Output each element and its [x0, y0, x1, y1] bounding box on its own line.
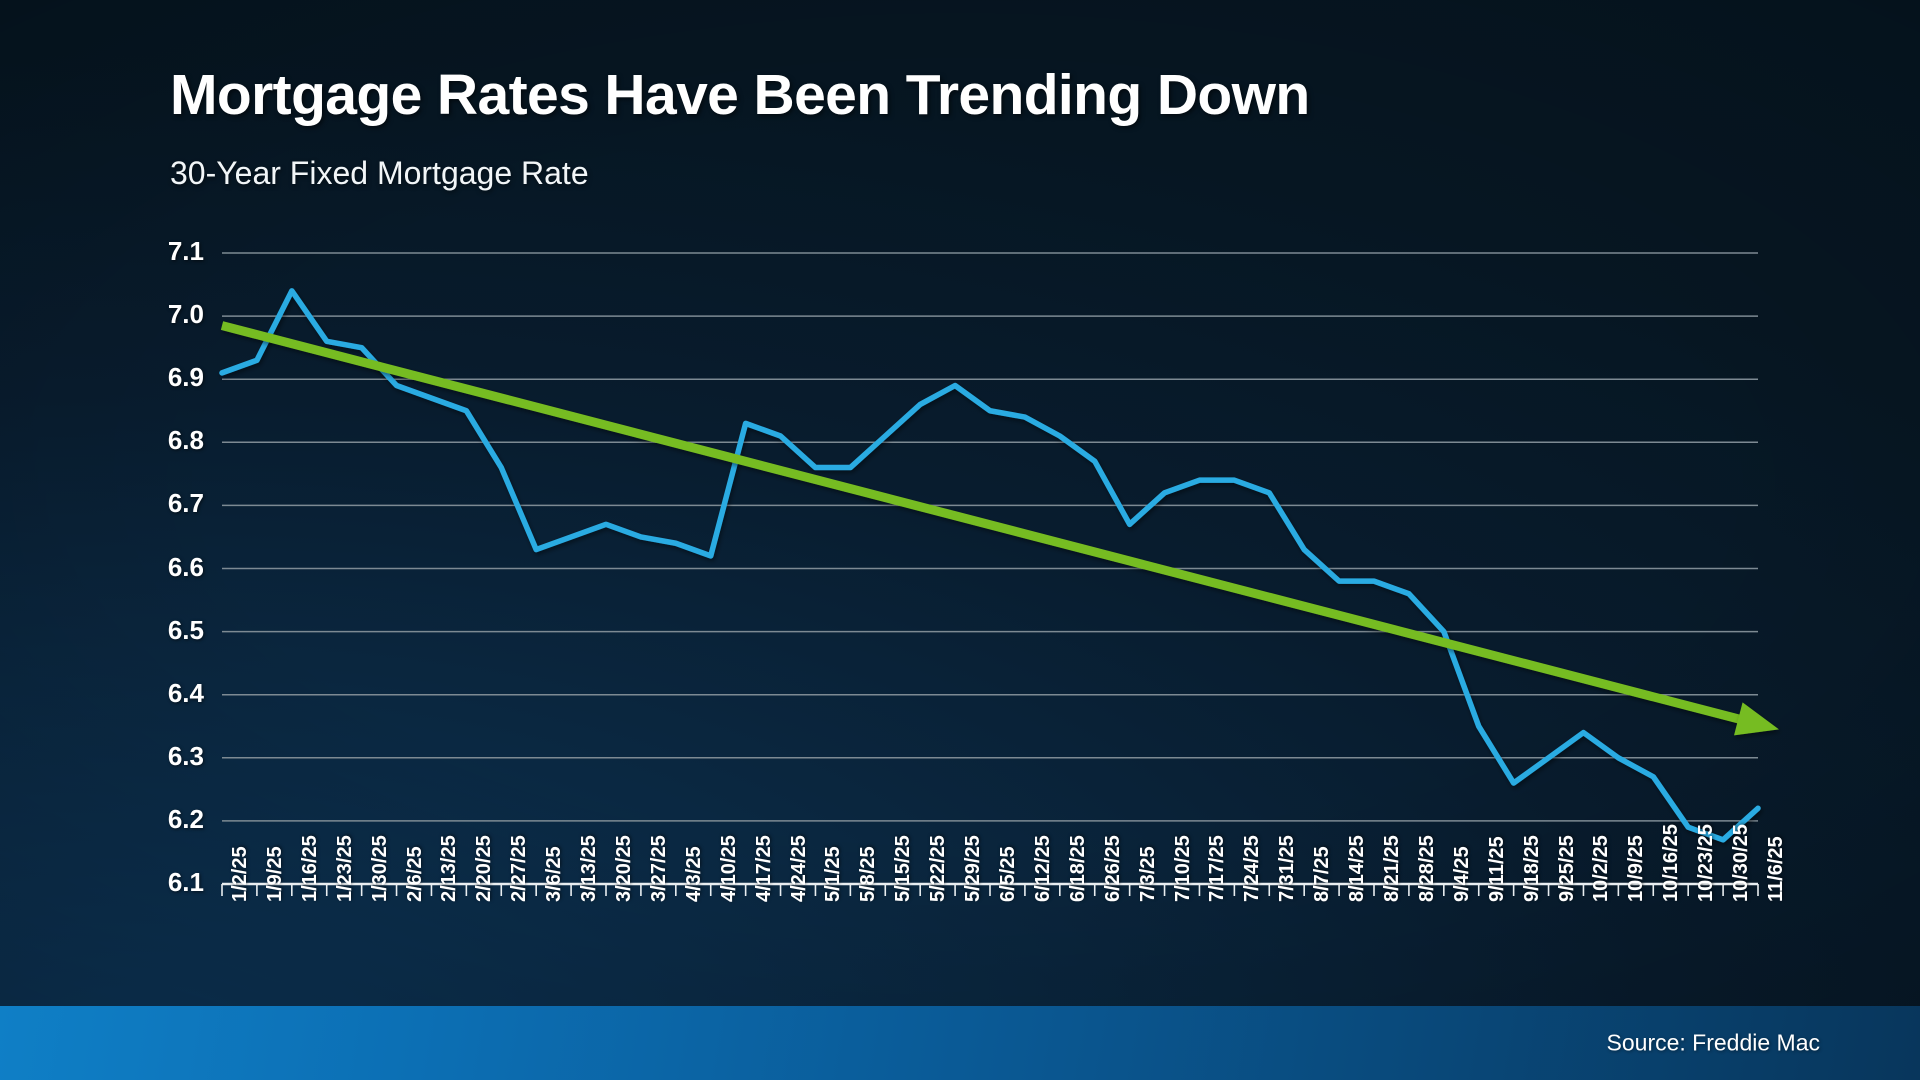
x-axis-tick-label: 2/27/25 — [508, 835, 531, 902]
x-axis-tick-label: 5/1/25 — [822, 846, 845, 902]
y-axis-tick-label: 6.8 — [114, 425, 204, 456]
y-axis-tick-label: 6.5 — [114, 615, 204, 646]
y-axis-tick-label: 6.4 — [114, 678, 204, 709]
x-axis-tick-label: 1/9/25 — [264, 846, 287, 902]
x-axis-tick-label: 3/27/25 — [648, 835, 671, 902]
y-axis-tick-label: 6.9 — [114, 362, 204, 393]
x-axis-tick-label: 7/17/25 — [1206, 835, 1229, 902]
x-axis-tick-label: 6/12/25 — [1032, 835, 1055, 902]
x-axis-tick-label: 9/25/25 — [1556, 835, 1579, 902]
x-axis-tick-label: 10/9/25 — [1625, 835, 1648, 902]
x-axis-tick-label: 6/5/25 — [997, 846, 1020, 902]
gridlines-group — [222, 253, 1758, 884]
x-axis-tick-label: 9/4/25 — [1451, 846, 1474, 902]
x-axis-tick-label: 7/31/25 — [1276, 835, 1299, 902]
x-axis-tick-label: 10/2/25 — [1590, 835, 1613, 902]
y-axis-tick-label: 7.1 — [114, 236, 204, 267]
x-axis-tick-label: 9/11/25 — [1486, 836, 1509, 902]
x-axis-tick-label: 11/6/25 — [1765, 836, 1788, 902]
x-axis-tick-label: 7/10/25 — [1172, 835, 1195, 902]
x-axis-tick-label: 4/17/25 — [753, 835, 776, 902]
x-axis-tick-label: 4/10/25 — [718, 835, 741, 902]
x-axis-tick-label: 8/14/25 — [1346, 835, 1369, 902]
x-axis-tick-label: 10/30/25 — [1730, 824, 1753, 902]
x-axis-tick-label: 2/13/25 — [438, 835, 461, 902]
x-axis-tick-label: 10/23/25 — [1695, 824, 1718, 902]
x-axis-tick-label: 8/7/25 — [1311, 846, 1334, 902]
x-axis-tick-label: 9/18/25 — [1521, 835, 1544, 902]
x-axis-tick-label: 7/3/25 — [1137, 846, 1160, 902]
x-axis-tick-label: 4/3/25 — [683, 846, 706, 902]
x-axis-tick-label: 3/13/25 — [578, 835, 601, 902]
x-axis-tick-label: 8/28/25 — [1416, 835, 1439, 902]
x-axis-tick-label: 6/26/25 — [1102, 835, 1125, 902]
x-axis-tick-label: 7/24/25 — [1241, 835, 1264, 902]
x-axis-tick-label: 3/20/25 — [613, 835, 636, 902]
x-axis-tick-label: 1/23/25 — [334, 835, 357, 902]
footer-bar: Source: Freddie Mac — [0, 1006, 1920, 1080]
x-axis-tick-label: 1/2/25 — [229, 846, 252, 902]
y-axis-tick-label: 6.6 — [114, 552, 204, 583]
x-axis-tick-label: 3/6/25 — [543, 846, 566, 902]
x-axis-tick-label: 5/22/25 — [927, 835, 950, 902]
x-axis-tick-label: 5/8/25 — [857, 846, 880, 902]
chart-canvas — [0, 0, 1920, 1080]
x-axis-tick-label: 5/29/25 — [962, 835, 985, 902]
x-axis-tick-label: 5/15/25 — [892, 835, 915, 902]
line-chart: 7.17.06.96.86.76.66.56.46.36.26.1 1/2/25… — [0, 0, 1920, 1080]
y-axis-tick-label: 7.0 — [114, 299, 204, 330]
x-axis-tick-label: 4/24/25 — [788, 835, 811, 902]
y-axis-tick-label: 6.3 — [114, 741, 204, 772]
trend-arrow-annotation — [222, 326, 1779, 736]
x-axis-tick-label: 8/21/25 — [1381, 835, 1404, 902]
x-axis-tick-label: 1/30/25 — [369, 835, 392, 902]
x-axis-tick-label: 2/20/25 — [473, 835, 496, 902]
source-attribution: Source: Freddie Mac — [1607, 1030, 1820, 1057]
x-axis-tick-label: 6/18/25 — [1067, 835, 1090, 902]
y-axis-tick-label: 6.2 — [114, 804, 204, 835]
trend-arrow-shaft — [222, 326, 1744, 721]
x-axis-tick-label: 2/6/25 — [404, 846, 427, 902]
y-axis-tick-label: 6.7 — [114, 488, 204, 519]
trend-arrow-head — [1734, 702, 1779, 735]
y-axis-tick-label: 6.1 — [114, 867, 204, 898]
x-axis-tick-label: 1/16/25 — [299, 835, 322, 902]
x-axis-tick-label: 10/16/25 — [1660, 824, 1683, 902]
